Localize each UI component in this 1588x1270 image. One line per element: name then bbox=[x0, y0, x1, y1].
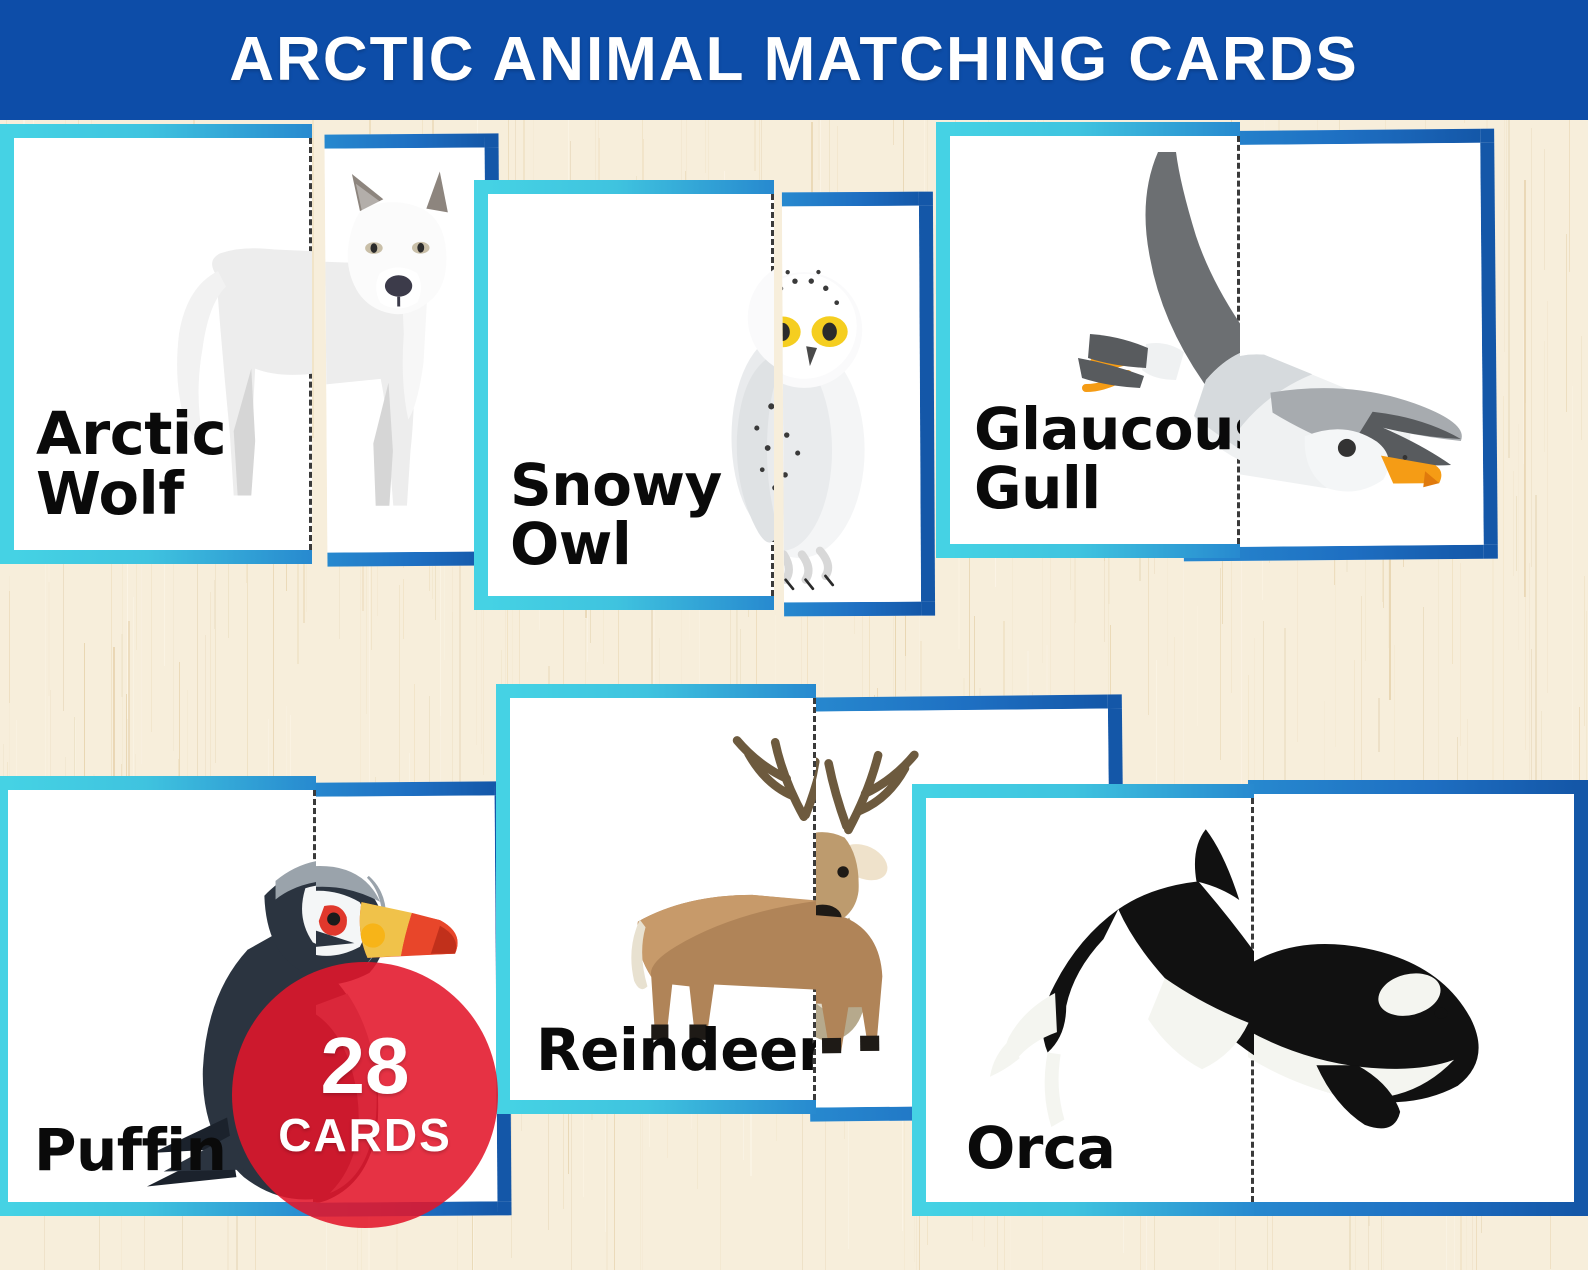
orca-icon bbox=[1248, 816, 1572, 1202]
card-glaucous-gull-label: Glaucous Gull bbox=[974, 400, 1240, 518]
card-reindeer-left-half[interactable]: Reindeer bbox=[496, 684, 816, 1114]
card-count-unit: CARDS bbox=[278, 1108, 452, 1162]
card-glaucous-gull-left-half[interactable]: Glaucous Gull bbox=[936, 122, 1240, 558]
card-orca[interactable]: Orca bbox=[912, 784, 1588, 1228]
page-title: ARCTIC ANIMAL MATCHING CARDS bbox=[229, 29, 1358, 91]
card-snowy-owl-left-half[interactable]: Snowy Owl bbox=[474, 180, 774, 610]
card-orca-label: Orca bbox=[966, 1119, 1115, 1178]
page-header: ARCTIC ANIMAL MATCHING CARDS bbox=[0, 0, 1588, 120]
card-count-number: 28 bbox=[321, 1028, 410, 1104]
arctic-wolf-icon bbox=[325, 158, 470, 553]
card-snowy-owl[interactable]: Snowy Owl bbox=[474, 180, 934, 620]
card-arctic-wolf[interactable]: Arctic Wolf bbox=[0, 124, 500, 569]
card-orca-left-half[interactable]: Orca bbox=[912, 784, 1254, 1216]
card-snowy-owl-right-half[interactable] bbox=[782, 192, 935, 617]
snowy-owl-icon bbox=[782, 232, 918, 603]
card-snowy-owl-label: Snowy Owl bbox=[510, 456, 774, 574]
card-glaucous-gull[interactable]: Glaucous Gull bbox=[936, 122, 1496, 572]
card-orca-right-half[interactable] bbox=[1248, 780, 1588, 1216]
card-reindeer-label: Reindeer bbox=[536, 1021, 816, 1080]
card-arctic-wolf-left-half[interactable]: Arctic Wolf bbox=[0, 124, 312, 564]
card-puffin-label: Puffin bbox=[34, 1121, 226, 1180]
card-arctic-wolf-label: Arctic Wolf bbox=[36, 404, 312, 524]
card-count-badge: 28 CARDS bbox=[232, 962, 498, 1228]
